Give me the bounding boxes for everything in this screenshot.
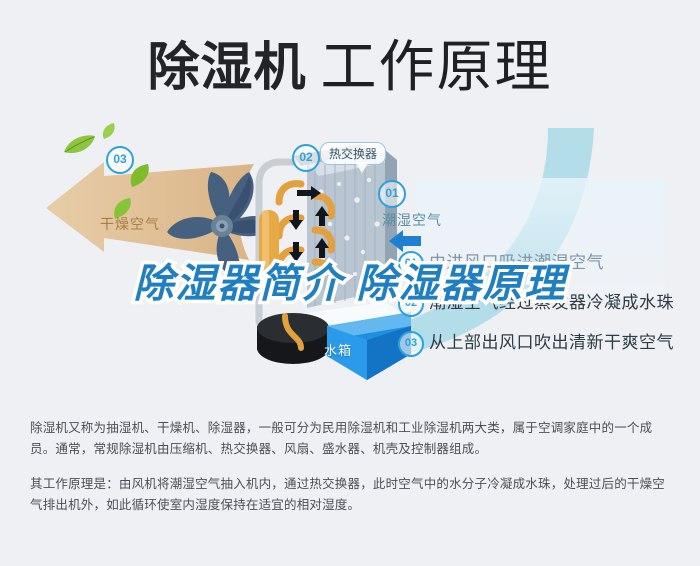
title-part-one: 除湿机 (147, 39, 306, 97)
step-item: 03 从上部出风口吹出清新干爽空气 (398, 326, 688, 360)
body-paragraph-1: 除湿机又称为抽湿机、干燥机、除湿器，一般可分为民用除湿机和工业除湿机两大类，属于… (30, 418, 672, 460)
leaf-icon-small (100, 122, 116, 145)
title-part-two: 工作原理 (321, 35, 553, 98)
body-paragraph-2: 其工作原理是：由风机将潮湿空气抽入机内，通过热交换器，此时空气中的水分子冷凝成水… (30, 474, 672, 516)
step-text: 从上部出风口吹出清新干爽空气 (429, 328, 674, 353)
callout-tail (355, 162, 369, 173)
badge-heat-exchanger: 02 (292, 144, 320, 172)
label-humid-air: 潮湿空气 (382, 210, 442, 230)
step-number: 03 (398, 331, 424, 357)
label-dry-air: 干燥空气 (100, 214, 160, 234)
page-title: 除湿机工作原理 (0, 22, 700, 103)
leaf-icon-large (62, 134, 96, 161)
badge-humid-air: 01 (378, 180, 406, 208)
heat-exchanger-callout: 热交换器 (320, 142, 386, 165)
poster-page: 除湿机工作原理 (0, 0, 700, 566)
body-text: 除湿机又称为抽湿机、干燥机、除湿器，一般可分为民用除湿机和工业除湿机两大类，属于… (30, 418, 672, 516)
watermark-text: 除湿器简介 除湿器原理 (0, 262, 700, 306)
illustration-stage: 03 02 01 热交换器 干燥空气 潮湿空气 水箱 01 由进风口吸进潮湿空气… (0, 118, 700, 398)
label-water-tank: 水箱 (324, 340, 352, 359)
badge-dry-air: 03 (106, 146, 134, 174)
